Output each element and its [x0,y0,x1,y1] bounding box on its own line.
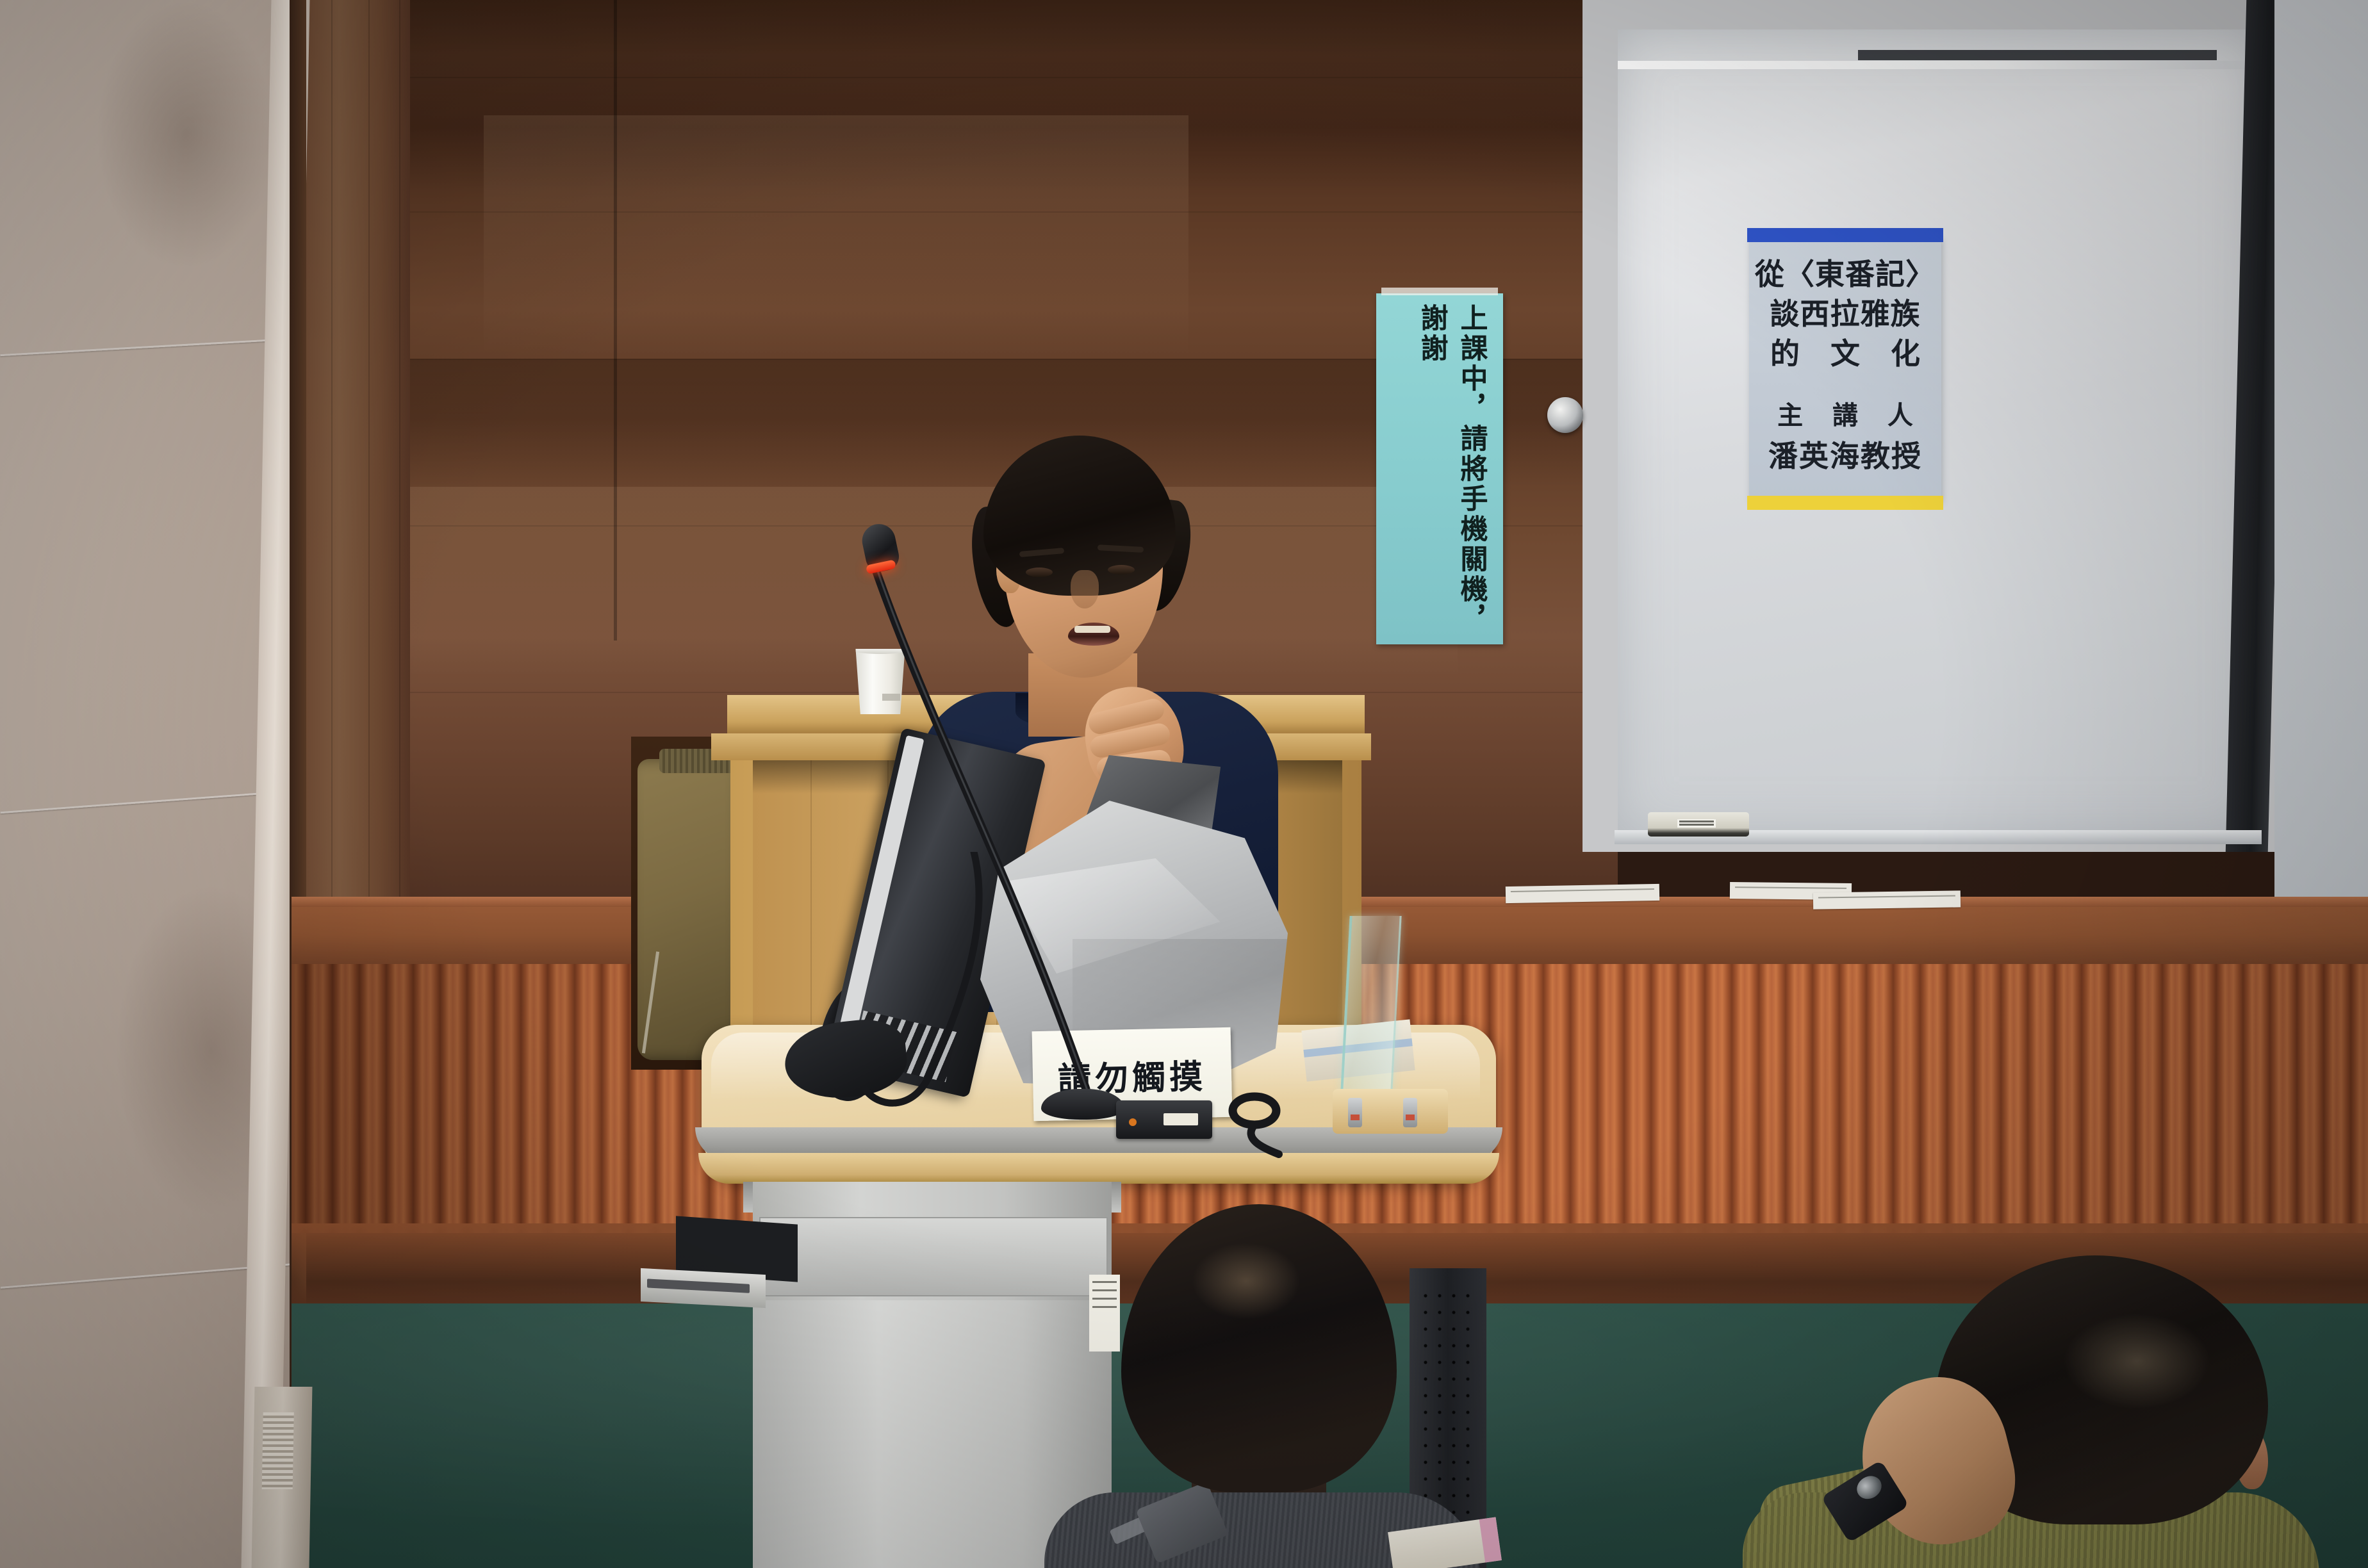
baseboard-vent [252,1387,313,1568]
lecture-hall-photo: 從〈東番記〉 談西拉雅族 的 文 化 主 講 人 潘英海教授 上課中，請將手機關… [0,0,2368,1568]
door-knob-icon[interactable] [1547,397,1583,433]
ceiling-light-reflection [1618,61,2246,69]
ceiling-dark-band [1858,50,2217,60]
poster-bottom-tape [1747,496,1943,510]
ledge-paper [1813,890,1961,909]
speaker-mouth [1068,623,1119,646]
poster-line-4: 主 講 人 [1749,395,1941,432]
poster-line-2: 談西拉雅族 [1749,291,1941,333]
lecture-title-poster: 從〈東番記〉 談西拉雅族 的 文 化 主 講 人 潘英海教授 [1749,237,1941,500]
phone-silence-banner: 上課中，請將手機關機，謝謝 [1376,293,1503,644]
projection-screen [2274,0,2368,1012]
poster-line-3: 的 文 化 [1749,331,1941,373]
pull-out-keyboard-tray[interactable] [641,1268,766,1308]
ledge-paper [1506,884,1659,903]
wood-panel-seam [614,0,617,641]
desk-lower-edge [698,1153,1499,1184]
poster-line-5: 潘英海教授 [1749,433,1941,475]
poster-line-1: 從〈東番記〉 [1749,251,1941,293]
transmitter-led [1129,1118,1137,1126]
audience-member-left [1032,1204,1493,1568]
wood-pilaster [292,0,410,910]
audience-member-right [1743,1255,2368,1568]
poster-top-tape [1747,228,1943,242]
speaker-eye-right [1108,565,1135,575]
whiteboard-eraser-icon[interactable] [1648,812,1749,837]
microphone-base [1041,1089,1124,1120]
aud1-hair [1121,1204,1397,1492]
bag-zipper [642,951,659,1053]
speaker-nose [1071,570,1099,608]
transmitter-label [1163,1113,1198,1125]
banner-tape [1381,288,1498,295]
glass-panel-base [1333,1089,1448,1134]
speaker-eye-left [1026,568,1053,577]
wireless-transmitter-box[interactable] [1116,1100,1212,1139]
banner-text: 上課中，請將手機關機，謝謝 [1412,304,1492,635]
